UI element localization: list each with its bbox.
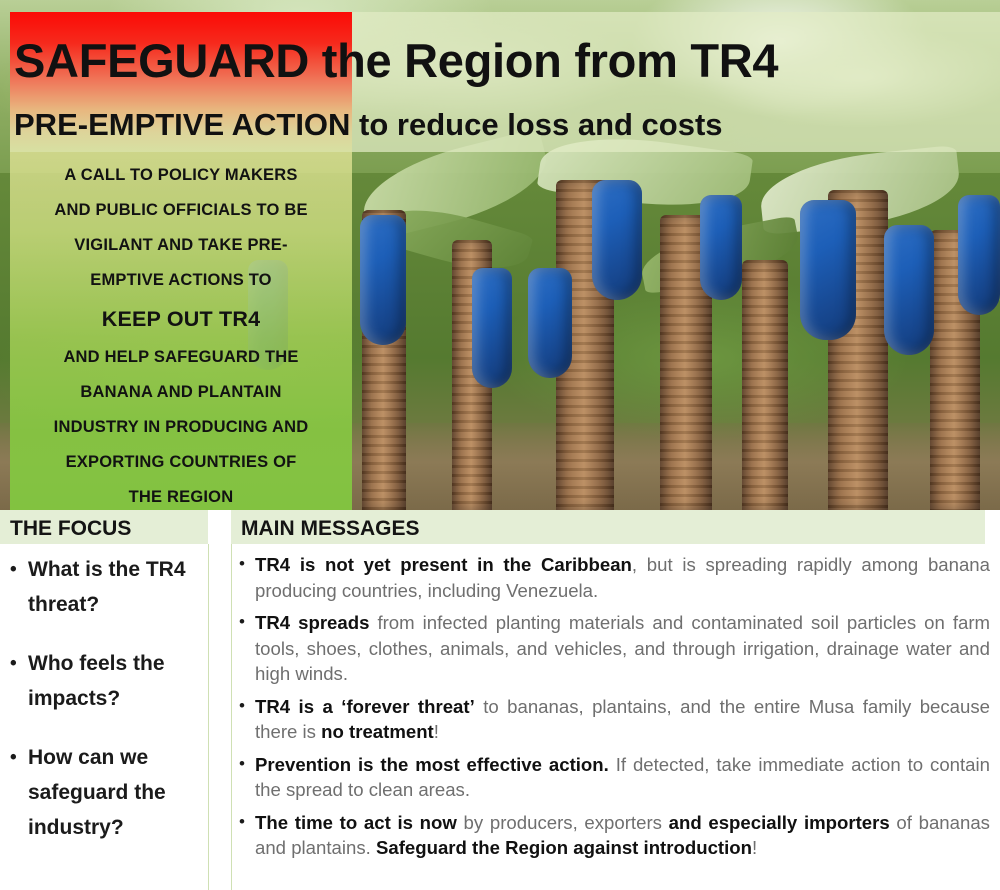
list-item: The time to act is now by producers, exp… — [238, 810, 990, 861]
cta-line: EMPTIVE ACTIONS TO — [90, 263, 271, 298]
poster-title-line-1: SAFEGUARD the Region from TR4 — [14, 30, 994, 92]
the-focus-heading: THE FOCUS — [0, 510, 208, 544]
blue-bunch-cover — [958, 195, 1000, 315]
emphasis-text: TR4 is not yet present in the Caribbean — [255, 554, 632, 575]
cta-line: BANANA AND PLANTAIN — [80, 375, 281, 410]
cta-line: INDUSTRY IN PRODUCING AND — [54, 410, 309, 445]
main-messages-heading: MAIN MESSAGES — [231, 510, 985, 544]
blue-bunch-cover — [800, 200, 856, 340]
cta-line: AND PUBLIC OFFICIALS TO BE — [54, 193, 307, 228]
title-highlight-preemptive: PRE-EMPTIVE ACTION — [14, 107, 350, 142]
list-item: TR4 spreads from infected planting mater… — [238, 610, 990, 687]
poster-root: SAFEGUARD the Region from TR4 PRE-EMPTIV… — [0, 0, 1000, 890]
emphasis-text: and especially importers — [669, 812, 890, 833]
title-rest-line-2: to reduce loss and costs — [350, 107, 722, 142]
emphasis-text: no treatment — [321, 721, 434, 742]
column-divider-left — [208, 544, 209, 890]
list-item: TR4 is a ‘forever threat’ to bananas, pl… — [238, 694, 990, 745]
section-header-the-focus: THE FOCUS — [0, 510, 208, 544]
cta-line: A CALL TO POLICY MAKERS — [64, 158, 297, 193]
the-focus-list: What is the TR4 threat? Who feels the im… — [8, 552, 204, 869]
list-item: Who feels the impacts? — [8, 646, 204, 716]
blue-bunch-cover — [592, 180, 642, 300]
emphasis-text: Safeguard the Region against introductio… — [376, 837, 752, 858]
blue-bunch-cover — [528, 268, 572, 378]
emphasis-text: Prevention is the most effective action. — [255, 754, 609, 775]
call-to-action-panel: A CALL TO POLICY MAKERS AND PUBLIC OFFIC… — [10, 152, 352, 510]
cta-line: VIGILANT AND TAKE PRE- — [74, 228, 287, 263]
list-item: TR4 is not yet present in the Caribbean,… — [238, 552, 990, 603]
list-item: Prevention is the most effective action.… — [238, 752, 990, 803]
emphasis-text: TR4 spreads — [255, 612, 369, 633]
main-messages-list: TR4 is not yet present in the Caribbean,… — [238, 552, 990, 868]
blue-bunch-cover — [700, 195, 742, 300]
emphasis-text: TR4 is a ‘forever threat’ — [255, 696, 475, 717]
banana-pseudostem — [742, 260, 788, 510]
body-text: ! — [752, 837, 757, 858]
body-text: by producers, exporters — [457, 812, 669, 833]
blue-bunch-cover — [884, 225, 934, 355]
blue-bunch-cover — [360, 215, 406, 345]
title-highlight-safeguard: SAFEGUARD — [14, 34, 309, 87]
cta-line: EXPORTING COUNTRIES OF — [66, 445, 297, 480]
title-rest-line-1: the Region from TR4 — [309, 34, 778, 87]
column-divider-right — [231, 544, 232, 890]
blue-bunch-cover — [472, 268, 512, 388]
cta-line-keep-out-tr4: KEEP OUT TR4 — [102, 298, 261, 340]
list-item: What is the TR4 threat? — [8, 552, 204, 622]
poster-title-line-2: PRE-EMPTIVE ACTION to reduce loss and co… — [14, 104, 994, 146]
body-text: ! — [434, 721, 439, 742]
cta-line: AND HELP SAFEGUARD THE — [63, 340, 298, 375]
emphasis-text: The time to act is now — [255, 812, 457, 833]
section-header-main-messages: MAIN MESSAGES — [231, 510, 985, 544]
list-item: How can we safeguard the industry? — [8, 740, 204, 845]
